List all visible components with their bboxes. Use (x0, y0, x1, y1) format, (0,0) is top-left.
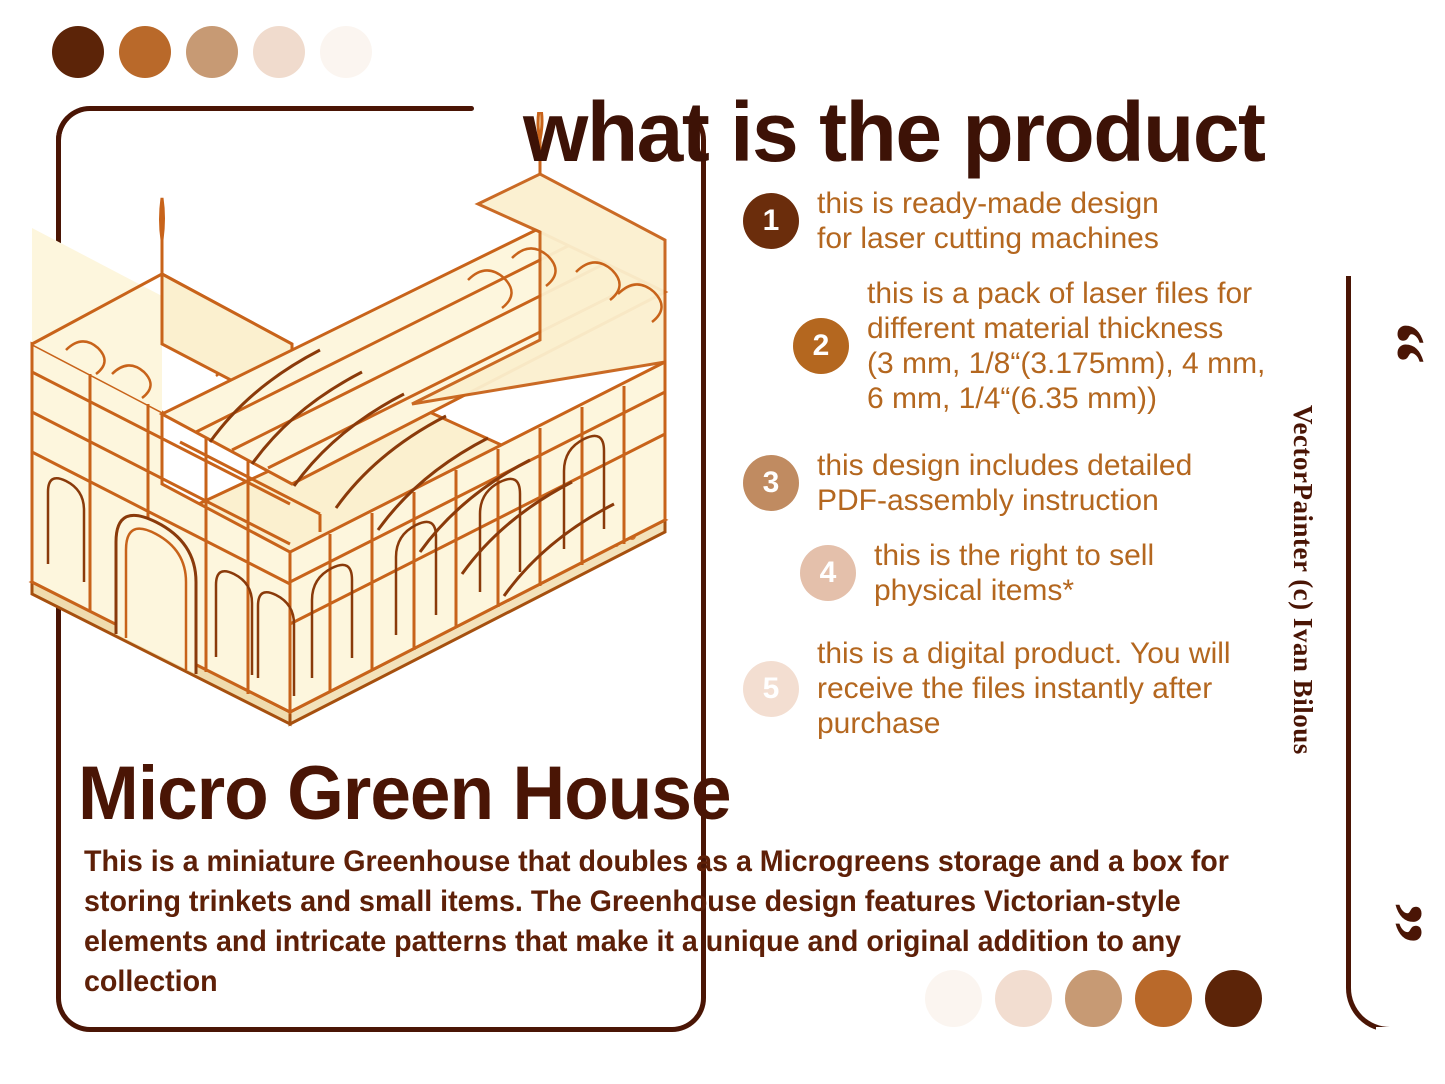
credit-bracket-trim (1376, 1027, 1445, 1037)
palette-swatch (1135, 970, 1192, 1027)
feature-label: this design includes detailed PDF-assemb… (817, 448, 1192, 518)
feature-number-badge: 3 (743, 455, 799, 511)
palette-swatch (320, 26, 372, 78)
palette-bottom (925, 970, 1262, 1027)
feature-label: this is the right to sell physical items… (874, 538, 1154, 608)
feature-number-badge: 4 (800, 545, 856, 601)
page-title: what is the product (523, 84, 1265, 181)
feature-item: 2 this is a pack of laser files for diff… (793, 276, 1265, 416)
palette-top (52, 26, 372, 78)
greenhouse-illustration (20, 112, 680, 762)
credit-text: VectorPainter (c) Ivan Bilous (1287, 405, 1318, 865)
feature-label: this is a digital product. You will rece… (817, 636, 1231, 741)
palette-swatch (52, 26, 104, 78)
feature-item: 4 this is the right to sell physical ite… (800, 538, 1154, 608)
feature-item: 5 this is a digital product. You will re… (743, 636, 1231, 741)
feature-label: this is a pack of laser files for differ… (867, 276, 1265, 416)
feature-item: 3 this design includes detailed PDF-asse… (743, 448, 1192, 518)
feature-number-badge: 1 (743, 193, 799, 249)
palette-swatch (1205, 970, 1262, 1027)
product-name: Micro Green House (78, 750, 731, 837)
feature-label: this is ready-made design for laser cutt… (817, 186, 1159, 256)
feature-number-badge: 5 (743, 661, 799, 717)
quote-open-icon: “ (1353, 322, 1439, 365)
left-frame-top-edge (88, 106, 474, 111)
left-frame-bottom-gap (700, 1018, 712, 1040)
palette-swatch (995, 970, 1052, 1027)
feature-number-badge: 2 (793, 318, 849, 374)
palette-swatch (253, 26, 305, 78)
palette-swatch (186, 26, 238, 78)
palette-swatch (925, 970, 982, 1027)
quote-close-icon: ” (1351, 902, 1437, 945)
feature-item: 1 this is ready-made design for laser cu… (743, 186, 1159, 256)
palette-swatch (119, 26, 171, 78)
palette-swatch (1065, 970, 1122, 1027)
poster-canvas: what is the product 1 this is ready-made… (0, 0, 1445, 1084)
